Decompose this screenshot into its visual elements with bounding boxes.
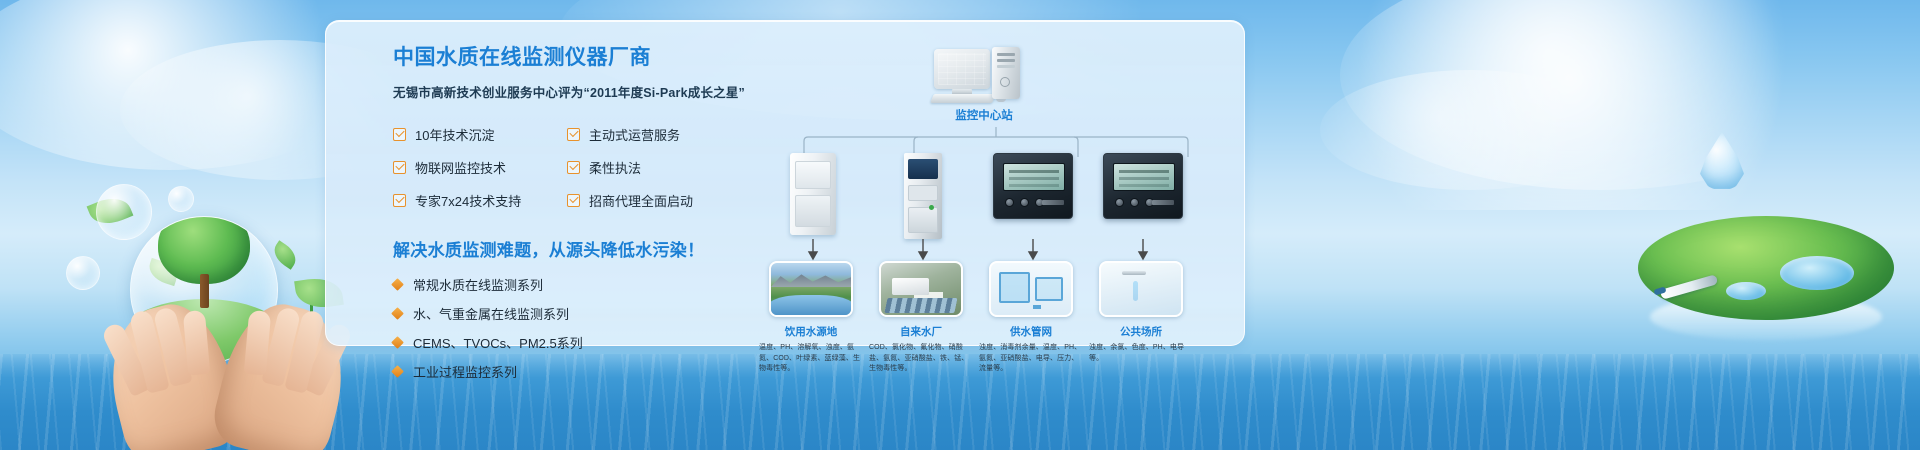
series-item[interactable]: 常规水质在线监测系列: [393, 275, 763, 294]
series-label: 常规水质在线监测系列: [413, 275, 543, 294]
page-subtitle: 无锡市高新技术创业服务中心评为“2011年度Si-Park成长之星”: [393, 82, 763, 101]
section-title: 解决水质监测难题，从源头降低水污染！: [393, 236, 763, 261]
cloud-decoration: [1320, 70, 1620, 190]
monitor-screen: [938, 53, 986, 85]
feature-label: 物联网监控技术: [415, 158, 506, 177]
series-label: 工业过程监控系列: [413, 362, 517, 381]
series-item[interactable]: 工业过程监控系列: [393, 362, 763, 381]
water-droplet-icon: [1700, 132, 1744, 190]
controller-brand-bar: [1152, 200, 1174, 205]
feature-label: 10年技术沉淀: [415, 125, 494, 144]
scene-title: 供水管网: [1010, 324, 1052, 339]
checkbox-icon: [393, 161, 406, 174]
controller-lcd: [1003, 163, 1065, 191]
series-item[interactable]: CEMS、TVOCs、PM2.5系列: [393, 333, 763, 352]
bubble-icon: [66, 256, 100, 290]
checkbox-icon: [567, 194, 580, 207]
controller-buttons: [1005, 198, 1044, 207]
controller-buttons: [1115, 198, 1154, 207]
page-title: 中国水质在线监测仪器厂商: [393, 45, 763, 70]
feature-list: 10年技术沉淀 主动式运营服务 物联网监控技术 柔性执法 专家7x24技术支持 …: [393, 125, 763, 210]
checkbox-icon: [393, 128, 406, 141]
checkbox-icon: [393, 194, 406, 207]
feature-item: 招商代理全面启动: [567, 191, 763, 210]
hero-panel: 中国水质在线监测仪器厂商 无锡市高新技术创业服务中心评为“2011年度Si-Pa…: [325, 20, 1245, 346]
scene-card[interactable]: 公共场所 浊度、余氯、色度、PH、电导等。: [1086, 261, 1196, 364]
checkbox-icon: [567, 161, 580, 174]
pc-tower-icon: [992, 47, 1020, 99]
series-label: CEMS、TVOCs、PM2.5系列: [413, 333, 583, 352]
sun-glow: [1310, 0, 1830, 210]
scene-photo-river: [769, 261, 853, 317]
down-arrows: [756, 239, 1236, 263]
scene-card[interactable]: 供水管网 浊度、消毒剂余量、温度、PH、氨氮、亚硝酸盐、电导、压力、流量等。: [976, 261, 1086, 375]
device-pipe-network-controller: [978, 153, 1088, 219]
hero-copy: 中国水质在线监测仪器厂商 无锡市高新技术创业服务中心评为“2011年度Si-Pa…: [393, 45, 763, 381]
scene-photo-waterworks: [879, 261, 963, 317]
controller-lcd: [1113, 163, 1175, 191]
scene-description: COD、氯化物、氟化物、硝酸盐、氨氮、亚硝酸盐、铁、锰、生物毒性等。: [869, 343, 973, 375]
bubble-icon: [96, 184, 152, 240]
cloud-decoration: [0, 0, 380, 170]
series-label: 水、气重金属在线监测系列: [413, 304, 569, 323]
feature-label: 柔性执法: [589, 158, 641, 177]
bubble-icon: [168, 186, 194, 212]
controller-icon: [1103, 153, 1183, 219]
scene-description: 浊度、消毒剂余量、温度、PH、氨氮、亚硝酸盐、电导、压力、流量等。: [979, 343, 1083, 375]
series-list: 常规水质在线监测系列 水、气重金属在线监测系列 CEMS、TVOCs、PM2.5…: [393, 275, 763, 381]
keyboard-icon: [930, 94, 996, 103]
feature-item: 柔性执法: [567, 158, 763, 177]
analyzer-cabinet-icon: [904, 153, 942, 239]
island-lake: [1780, 256, 1854, 290]
feature-label: 主动式运营服务: [589, 125, 680, 144]
feature-label: 招商代理全面启动: [589, 191, 693, 210]
diamond-bullet-icon: [391, 307, 404, 320]
monitor-icon: [934, 49, 990, 89]
series-item[interactable]: 水、气重金属在线监测系列: [393, 304, 763, 323]
scene-description: 浊度、余氯、色度、PH、电导等。: [1089, 343, 1193, 364]
controller-brand-bar: [1042, 200, 1064, 205]
white-cabinet-icon: [790, 153, 836, 235]
diamond-bullet-icon: [391, 336, 404, 349]
scene-photo-public-tap: [1099, 261, 1183, 317]
monitoring-center-label: 监控中心站: [902, 107, 1066, 123]
feature-label: 专家7x24技术支持: [415, 191, 521, 210]
island-surface: [1638, 216, 1894, 320]
scene-card[interactable]: 饮用水源地 温度、PH、溶解氧、浊度、氨氮、COD、叶绿素、蓝绿藻、生物毒性等。: [756, 261, 866, 375]
scene-card[interactable]: 自来水厂 COD、氯化物、氟化物、硝酸盐、氨氮、亚硝酸盐、铁、锰、生物毒性等。: [866, 261, 976, 375]
device-waterworks-analyzer: [868, 153, 978, 239]
feature-item: 专家7x24技术支持: [393, 191, 561, 210]
system-diagram: 监控中心站: [756, 33, 1236, 343]
cloud-decoration: [1340, 0, 1860, 190]
diamond-bullet-icon: [391, 365, 404, 378]
scene-title: 饮用水源地: [785, 324, 838, 339]
hands: [112, 286, 342, 450]
scene-photo-row: 饮用水源地 温度、PH、溶解氧、浊度、氨氮、COD、叶绿素、蓝绿藻、生物毒性等。…: [756, 261, 1236, 343]
feature-item: 主动式运营服务: [567, 125, 763, 144]
scene-photo-pipe-network: [989, 261, 1073, 317]
device-public-place-controller: [1088, 153, 1198, 219]
green-island-artwork: [1638, 216, 1894, 348]
device-drinking-water-cabinet: [758, 153, 868, 235]
monitoring-center-computer-icon: [934, 47, 1034, 103]
scene-title: 公共场所: [1120, 324, 1162, 339]
diamond-bullet-icon: [391, 278, 404, 291]
device-row: [756, 153, 1236, 253]
controller-icon: [993, 153, 1073, 219]
feature-item: 物联网监控技术: [393, 158, 561, 177]
feature-item: 10年技术沉淀: [393, 125, 561, 144]
scene-description: 温度、PH、溶解氧、浊度、氨氮、COD、叶绿素、蓝绿藻、生物毒性等。: [759, 343, 863, 375]
island-lake: [1726, 282, 1766, 300]
scene-title: 自来水厂: [900, 324, 942, 339]
checkbox-icon: [567, 128, 580, 141]
